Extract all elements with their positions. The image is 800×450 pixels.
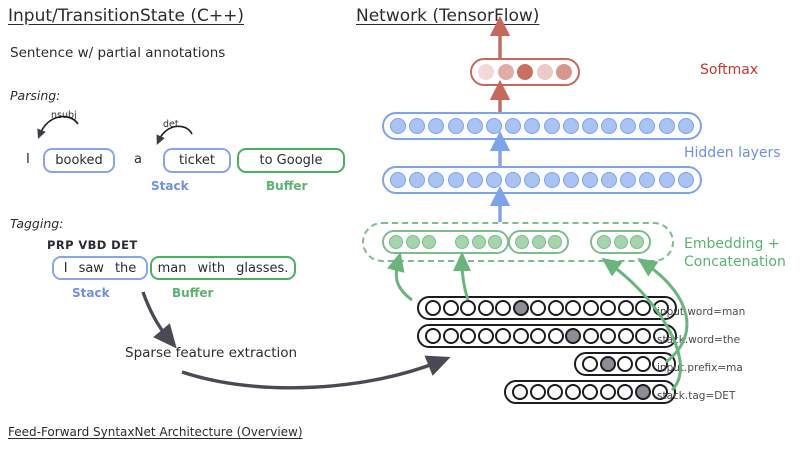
hidden1-neuron-2 bbox=[428, 118, 444, 134]
hidden-layer-1 bbox=[382, 112, 702, 140]
buffer-word-with: with bbox=[198, 261, 226, 276]
hidden1-neuron-14 bbox=[659, 118, 675, 134]
hidden2-neuron-11 bbox=[601, 172, 617, 188]
feature3-dot-4 bbox=[582, 384, 598, 400]
hidden1-neuron-1 bbox=[409, 118, 425, 134]
feature2-dot-2 bbox=[617, 356, 633, 372]
hidden1-neuron-13 bbox=[639, 118, 655, 134]
softmax-neuron-2 bbox=[517, 64, 533, 80]
hidden2-neuron-6 bbox=[505, 172, 521, 188]
hidden2-neuron-10 bbox=[582, 172, 598, 188]
embed3-dot-0 bbox=[597, 235, 611, 249]
feature1-dot-9 bbox=[583, 328, 599, 344]
hidden1-neuron-8 bbox=[544, 118, 560, 134]
parse-token-i: I bbox=[26, 152, 30, 167]
arc-label-nsubj: nsubj bbox=[51, 110, 77, 121]
embed1-dot-1 bbox=[406, 235, 420, 249]
feature0-dot-11 bbox=[618, 300, 634, 316]
hidden2-neuron-8 bbox=[544, 172, 560, 188]
stack-word-the: the bbox=[115, 261, 136, 276]
arrow-extraction-to-features bbox=[182, 362, 438, 388]
feature1-dot-1 bbox=[443, 328, 459, 344]
feature0-dot-4 bbox=[495, 300, 511, 316]
feature-vector-0 bbox=[417, 296, 677, 320]
feature0-dot-5 bbox=[513, 300, 529, 316]
embed1-dot-4 bbox=[472, 235, 486, 249]
left-panel-header: Input/TransitionState (C++) bbox=[8, 6, 244, 26]
feature2-dot-1 bbox=[600, 356, 616, 372]
hidden-layer-2 bbox=[382, 166, 702, 194]
feature-label-2: input.prefix=ma bbox=[657, 362, 743, 374]
tagging-label: Tagging: bbox=[10, 216, 63, 231]
hidden2-neuron-4 bbox=[467, 172, 483, 188]
hidden1-neuron-15 bbox=[678, 118, 694, 134]
hidden1-neuron-12 bbox=[620, 118, 636, 134]
hidden2-neuron-12 bbox=[620, 172, 636, 188]
feature-label-1: stack.word=the bbox=[657, 334, 740, 346]
hidden2-neuron-9 bbox=[563, 172, 579, 188]
hidden1-neuron-7 bbox=[524, 118, 540, 134]
feature3-dot-0 bbox=[512, 384, 528, 400]
embedding-box-3 bbox=[590, 230, 651, 254]
feature-vector-3 bbox=[504, 380, 676, 404]
feature2-dot-0 bbox=[582, 356, 598, 372]
pos-tag-prp: PRP bbox=[47, 238, 74, 252]
buffer-word-man: man bbox=[158, 261, 187, 276]
feature0-dot-0 bbox=[425, 300, 441, 316]
embed1-dot-5 bbox=[488, 235, 502, 249]
hidden1-neuron-6 bbox=[505, 118, 521, 134]
feature0-dot-12 bbox=[635, 300, 651, 316]
sparse-feature-extraction-label: Sparse feature extraction bbox=[125, 345, 297, 361]
softmax-neuron-0 bbox=[478, 64, 494, 80]
stack-word-i: I bbox=[64, 261, 68, 276]
right-panel-header: Network (TensorFlow) bbox=[356, 6, 539, 26]
feature0-dot-8 bbox=[565, 300, 581, 316]
hidden2-neuron-14 bbox=[659, 172, 675, 188]
buffer-word-glasses: glasses. bbox=[236, 261, 288, 276]
hidden1-neuron-11 bbox=[601, 118, 617, 134]
embed2-dot-1 bbox=[532, 235, 546, 249]
figure-caption: Feed-Forward SyntaxNet Architecture (Ove… bbox=[8, 425, 303, 439]
parsing-buffer-label: Buffer bbox=[266, 179, 307, 193]
hidden2-neuron-1 bbox=[409, 172, 425, 188]
feature1-dot-0 bbox=[425, 328, 441, 344]
feature3-dot-3 bbox=[565, 384, 581, 400]
feature0-dot-6 bbox=[530, 300, 546, 316]
parse-token-to-google[interactable]: to Google bbox=[237, 148, 345, 173]
feature0-dot-10 bbox=[600, 300, 616, 316]
feature3-dot-6 bbox=[617, 384, 633, 400]
feature1-dot-11 bbox=[618, 328, 634, 344]
feature-vector-1 bbox=[417, 324, 677, 348]
embed1-dot-2 bbox=[422, 235, 436, 249]
hidden1-neuron-5 bbox=[486, 118, 502, 134]
hidden2-neuron-3 bbox=[448, 172, 464, 188]
tagging-stack-chip[interactable]: I saw the bbox=[52, 256, 148, 280]
feature1-dot-10 bbox=[600, 328, 616, 344]
embed2-dot-0 bbox=[515, 235, 529, 249]
feature0-dot-9 bbox=[583, 300, 599, 316]
embedding-box-1 bbox=[382, 230, 509, 254]
embed3-dot-2 bbox=[630, 235, 644, 249]
embedding-label-line2: Concatenation bbox=[684, 254, 786, 272]
embed1-dot-3 bbox=[455, 235, 469, 249]
pos-tag-det: DET bbox=[111, 238, 137, 252]
hidden2-neuron-0 bbox=[390, 172, 406, 188]
tagging-buffer-label: Buffer bbox=[172, 286, 213, 300]
feature1-dot-2 bbox=[460, 328, 476, 344]
arrow-to-extraction bbox=[143, 292, 168, 338]
feature1-dot-4 bbox=[495, 328, 511, 344]
embedding-box-2 bbox=[508, 230, 569, 254]
feature-label-0: input.word=man bbox=[657, 306, 745, 318]
feature3-dot-1 bbox=[530, 384, 546, 400]
stack-word-saw: saw bbox=[79, 261, 104, 276]
feature2-dot-3 bbox=[635, 356, 651, 372]
pos-tag-vbd: VBD bbox=[78, 238, 106, 252]
tagging-buffer-chip[interactable]: man with glasses. bbox=[150, 256, 296, 280]
softmax-neuron-4 bbox=[556, 64, 572, 80]
softmax-neuron-3 bbox=[537, 64, 553, 80]
parse-token-a: a bbox=[134, 152, 142, 167]
feature1-dot-5 bbox=[513, 328, 529, 344]
feature0-dot-7 bbox=[548, 300, 564, 316]
arc-label-det: det bbox=[163, 119, 179, 130]
feature0-dot-2 bbox=[460, 300, 476, 316]
hidden-layers-label: Hidden layers bbox=[684, 145, 781, 163]
softmax-neuron-1 bbox=[498, 64, 514, 80]
hidden1-neuron-4 bbox=[467, 118, 483, 134]
feature3-dot-2 bbox=[547, 384, 563, 400]
hidden2-neuron-7 bbox=[524, 172, 540, 188]
feature0-dot-3 bbox=[478, 300, 494, 316]
pos-tags: PRP VBD DET bbox=[47, 238, 138, 252]
parse-token-ticket[interactable]: ticket bbox=[163, 148, 231, 173]
feature3-dot-7 bbox=[635, 384, 651, 400]
hidden2-neuron-13 bbox=[639, 172, 655, 188]
embedding-label: Embedding + Concatenation bbox=[684, 236, 786, 271]
embed3-dot-1 bbox=[614, 235, 628, 249]
feature1-dot-12 bbox=[635, 328, 651, 344]
embed1-dot-0 bbox=[389, 235, 403, 249]
feature-label-3: stack.tag=DET bbox=[657, 390, 735, 402]
feature1-dot-6 bbox=[530, 328, 546, 344]
hidden1-neuron-0 bbox=[390, 118, 406, 134]
feature1-dot-7 bbox=[548, 328, 564, 344]
feature0-dot-1 bbox=[443, 300, 459, 316]
feature3-dot-5 bbox=[600, 384, 616, 400]
hidden2-neuron-5 bbox=[486, 172, 502, 188]
hidden1-neuron-10 bbox=[582, 118, 598, 134]
hidden1-neuron-3 bbox=[448, 118, 464, 134]
feature1-dot-3 bbox=[478, 328, 494, 344]
tagging-stack-label: Stack bbox=[72, 286, 110, 300]
feature1-dot-8 bbox=[565, 328, 581, 344]
embed2-dot-2 bbox=[548, 235, 562, 249]
softmax-layer bbox=[470, 58, 580, 86]
softmax-label: Softmax bbox=[700, 62, 758, 80]
parse-token-booked[interactable]: booked bbox=[43, 148, 115, 173]
embedding-label-line1: Embedding + bbox=[684, 236, 786, 254]
parsing-label: Parsing: bbox=[10, 88, 60, 103]
hidden1-neuron-9 bbox=[563, 118, 579, 134]
hidden2-neuron-15 bbox=[678, 172, 694, 188]
parsing-stack-label: Stack bbox=[151, 179, 189, 193]
left-subtitle: Sentence w/ partial annotations bbox=[10, 45, 225, 61]
hidden2-neuron-2 bbox=[428, 172, 444, 188]
